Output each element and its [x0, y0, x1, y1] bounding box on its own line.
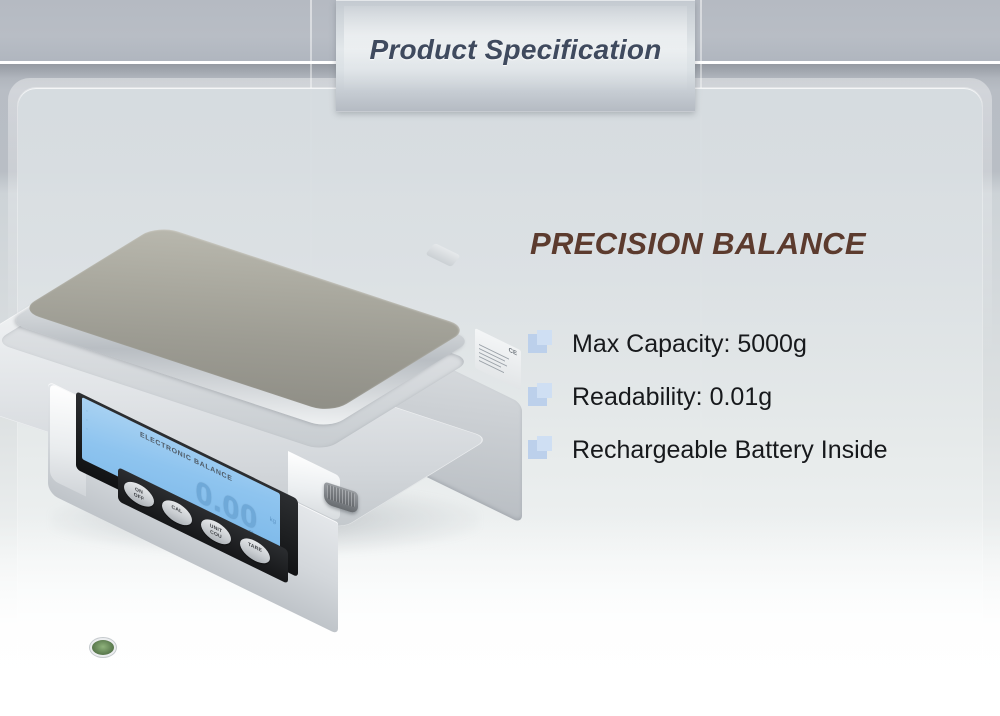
specification-list: Max Capacity: 5000g Readability: 0.01g R…	[528, 318, 968, 477]
square-bullet-icon	[528, 330, 554, 356]
list-item: Rechargeable Battery Inside	[528, 424, 968, 477]
cal-button[interactable]: CAL	[162, 495, 192, 530]
lcd-indicator-ticks: ▫▫▫	[86, 407, 88, 435]
balance-rating-label: CE	[475, 328, 521, 390]
list-item: Readability: 0.01g	[528, 371, 968, 424]
page-title: Product Specification	[336, 34, 695, 66]
unit-count-button[interactable]: UNITCOU	[201, 514, 231, 549]
product-specification-page: Product Specification CE	[0, 0, 1000, 716]
square-bullet-icon	[528, 436, 554, 462]
precision-balance-illustration: CE ▫▫▫ ELECTRONIC BALANCE 0.00 g kg ONOF…	[30, 185, 520, 555]
balance-rear-notch	[425, 243, 460, 267]
lcd-mode-flag: kg	[270, 517, 276, 526]
spec-label: Max Capacity: 5000g	[572, 330, 807, 359]
list-item: Max Capacity: 5000g	[528, 318, 968, 371]
ce-mark-icon: CE	[509, 347, 517, 357]
spec-label: Rechargeable Battery Inside	[572, 436, 887, 465]
power-button[interactable]: ONOFF	[124, 477, 154, 512]
specification-content: PRECISION BALANCE Max Capacity: 5000g Re…	[528, 226, 968, 477]
spec-label: Readability: 0.01g	[572, 383, 772, 412]
product-name-heading: PRECISION BALANCE	[530, 226, 968, 262]
bubble-level-indicator	[92, 640, 114, 655]
tare-button[interactable]: TARE	[240, 534, 270, 569]
square-bullet-icon	[528, 383, 554, 409]
balance-body: CE ▫▫▫ ELECTRONIC BALANCE 0.00 g kg ONOF…	[30, 185, 520, 555]
header-banner: Product Specification	[336, 0, 695, 112]
